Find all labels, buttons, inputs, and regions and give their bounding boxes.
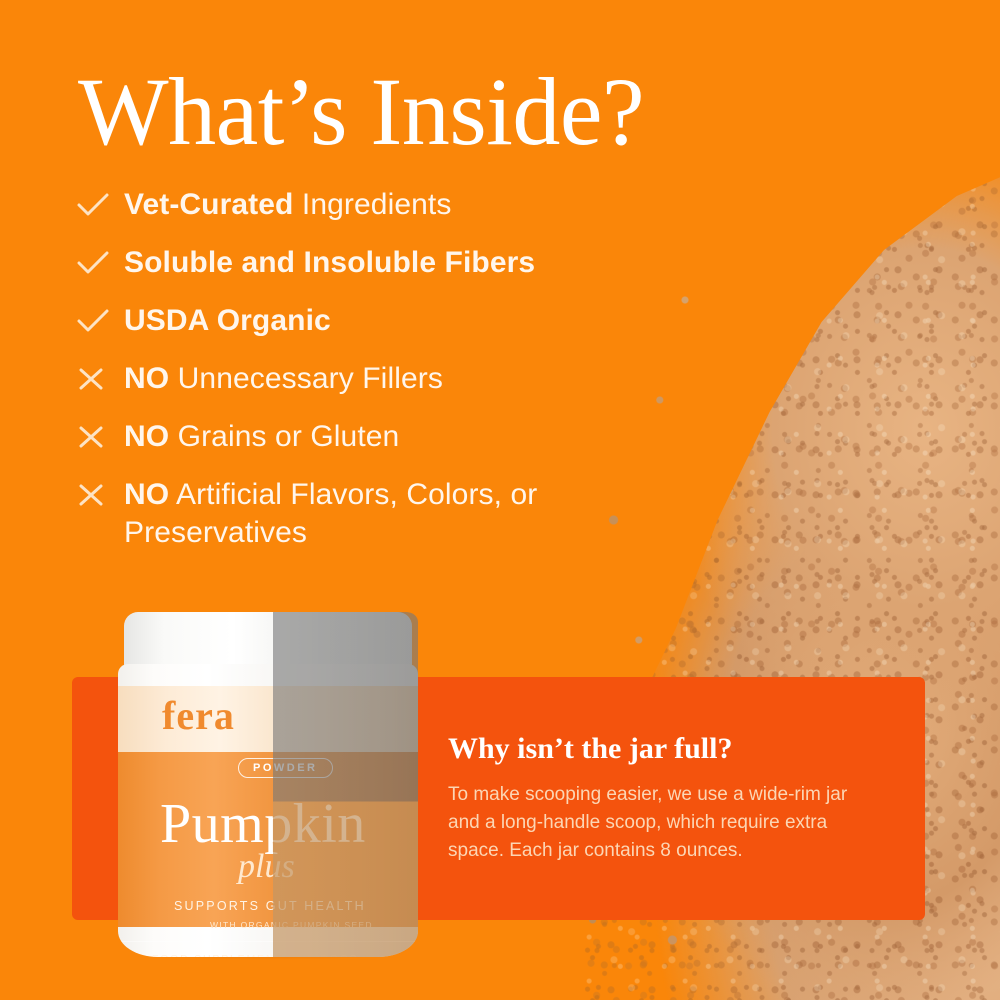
list-item: NO Grains or Gluten	[76, 418, 716, 456]
list-item-rest: Grains or Gluten	[169, 420, 399, 453]
list-item-rest: Artificial Flavors, Colors, or Preservat…	[124, 478, 537, 549]
list-item: NO Artificial Flavors, Colors, or Preser…	[76, 476, 716, 552]
cross-icon	[76, 476, 124, 512]
check-icon	[76, 302, 124, 338]
info-card-body: To make scooping easier, we use a wide-r…	[448, 781, 878, 865]
list-item: Vet-Curated Ingredients	[76, 186, 716, 224]
promo-graphic: What’s Inside? Vet-Curated Ingredients S…	[0, 0, 1000, 1000]
list-item-text: NO Grains or Gluten	[124, 418, 399, 456]
list-item-text: Soluble and Insoluble Fibers	[124, 244, 535, 282]
brand-logo: fera	[162, 696, 235, 736]
product-name: Pumpkin	[160, 796, 366, 852]
cross-icon	[76, 360, 124, 396]
page-title: What’s Inside?	[78, 64, 644, 160]
product-ingredient-note: WITH ORGANIC PUMPKIN SEED	[210, 920, 373, 931]
product-script-word: plus	[238, 850, 295, 884]
list-item-text: NO Artificial Flavors, Colors, or Preser…	[124, 476, 716, 552]
check-icon	[76, 244, 124, 280]
list-item-text: NO Unnecessary Fillers	[124, 360, 443, 398]
list-item-text: USDA Organic	[124, 302, 331, 340]
benefits-list: Vet-Curated Ingredients Soluble and Inso…	[76, 186, 716, 572]
jar-body: fera POWDER Pumpkin plus SUPPORTS GUT HE…	[118, 664, 418, 957]
jar-lid	[124, 612, 412, 670]
list-item-rest: Ingredients	[293, 188, 451, 221]
product-tagline: SUPPORTS GUT HEALTH	[174, 899, 366, 913]
info-card-content: Why isn’t the jar full? To make scooping…	[448, 732, 878, 865]
cross-icon	[76, 418, 124, 454]
list-item: NO Unnecessary Fillers	[76, 360, 716, 398]
check-icon	[76, 186, 124, 222]
product-jar: fera POWDER Pumpkin plus SUPPORTS GUT HE…	[118, 612, 418, 957]
list-item: USDA Organic	[76, 302, 716, 340]
list-item: Soluble and Insoluble Fibers	[76, 244, 716, 282]
list-item-text: Vet-Curated Ingredients	[124, 186, 451, 224]
list-item-emphasis: USDA Organic	[124, 304, 331, 337]
powder-badge: POWDER	[238, 758, 333, 778]
list-item-emphasis: Soluble and Insoluble Fibers	[124, 246, 535, 279]
label-divider	[118, 941, 418, 942]
list-item-emphasis: Vet-Curated	[124, 188, 293, 221]
list-item-rest: Unnecessary Fillers	[169, 362, 443, 395]
list-item-emphasis: NO	[124, 362, 169, 395]
list-item-emphasis: NO	[124, 478, 169, 511]
list-item-emphasis: NO	[124, 420, 169, 453]
info-card-title: Why isn’t the jar full?	[448, 732, 878, 765]
product-footer-text: FOOD SUPPLEMENT FOR DOGS	[152, 953, 358, 957]
